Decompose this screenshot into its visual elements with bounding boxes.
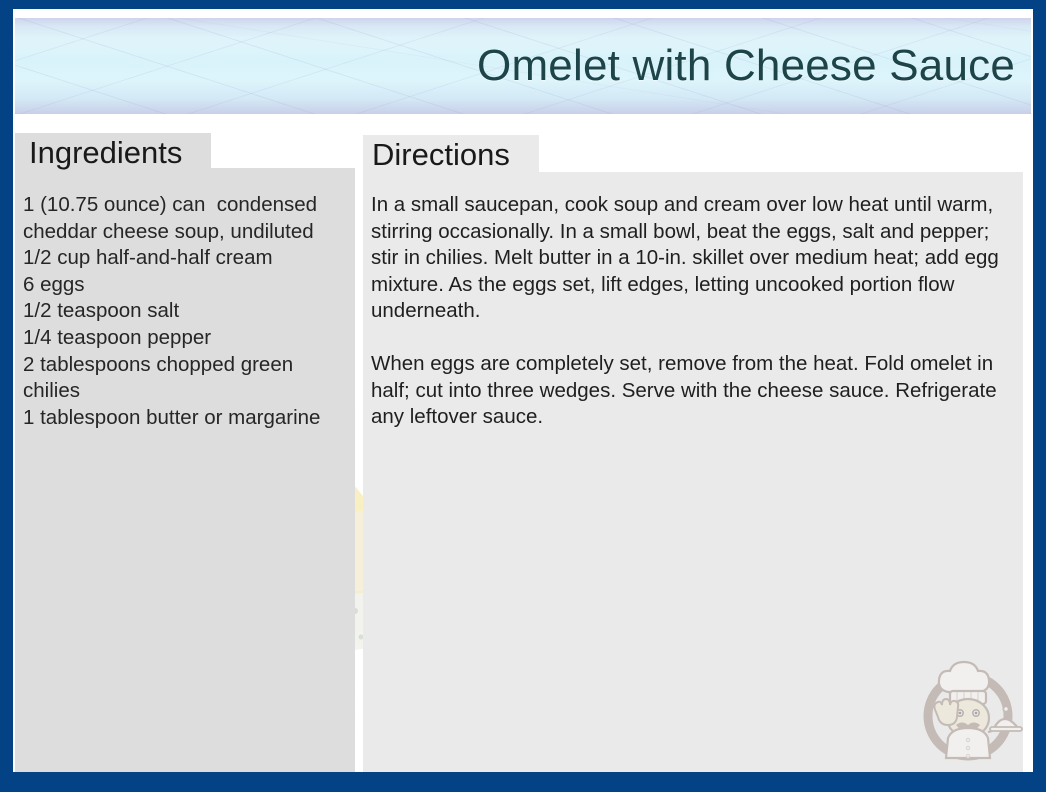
directions-paragraph: When eggs are completely set, remove fro… [371, 351, 1019, 431]
list-item: 1/2 teaspoon salt [23, 298, 353, 325]
list-item: 1/2 cup half-and-half cream [23, 245, 353, 272]
list-item: 1/4 teaspoon pepper [23, 325, 353, 352]
list-item: cheddar cheese soup, undiluted [23, 219, 353, 246]
recipe-slide: Omelet with Cheese Sauce [13, 9, 1033, 772]
directions-paragraph: In a small saucepan, cook soup and cream… [371, 192, 1019, 325]
page-title: Omelet with Cheese Sauce [477, 41, 1015, 91]
directions-heading: Directions [372, 137, 510, 173]
title-banner: Omelet with Cheese Sauce [15, 18, 1031, 114]
list-item: 2 tablespoons chopped green [23, 352, 353, 379]
list-item: 1 tablespoon butter or margarine [23, 405, 353, 432]
ingredients-list: 1 (10.75 ounce) can condensed cheddar ch… [23, 192, 353, 431]
list-item: 1 (10.75 ounce) can condensed [23, 192, 353, 219]
list-item: 6 eggs [23, 272, 353, 299]
list-item: chilies [23, 378, 353, 405]
directions-body: In a small saucepan, cook soup and cream… [371, 192, 1019, 431]
ingredients-heading: Ingredients [29, 135, 182, 171]
